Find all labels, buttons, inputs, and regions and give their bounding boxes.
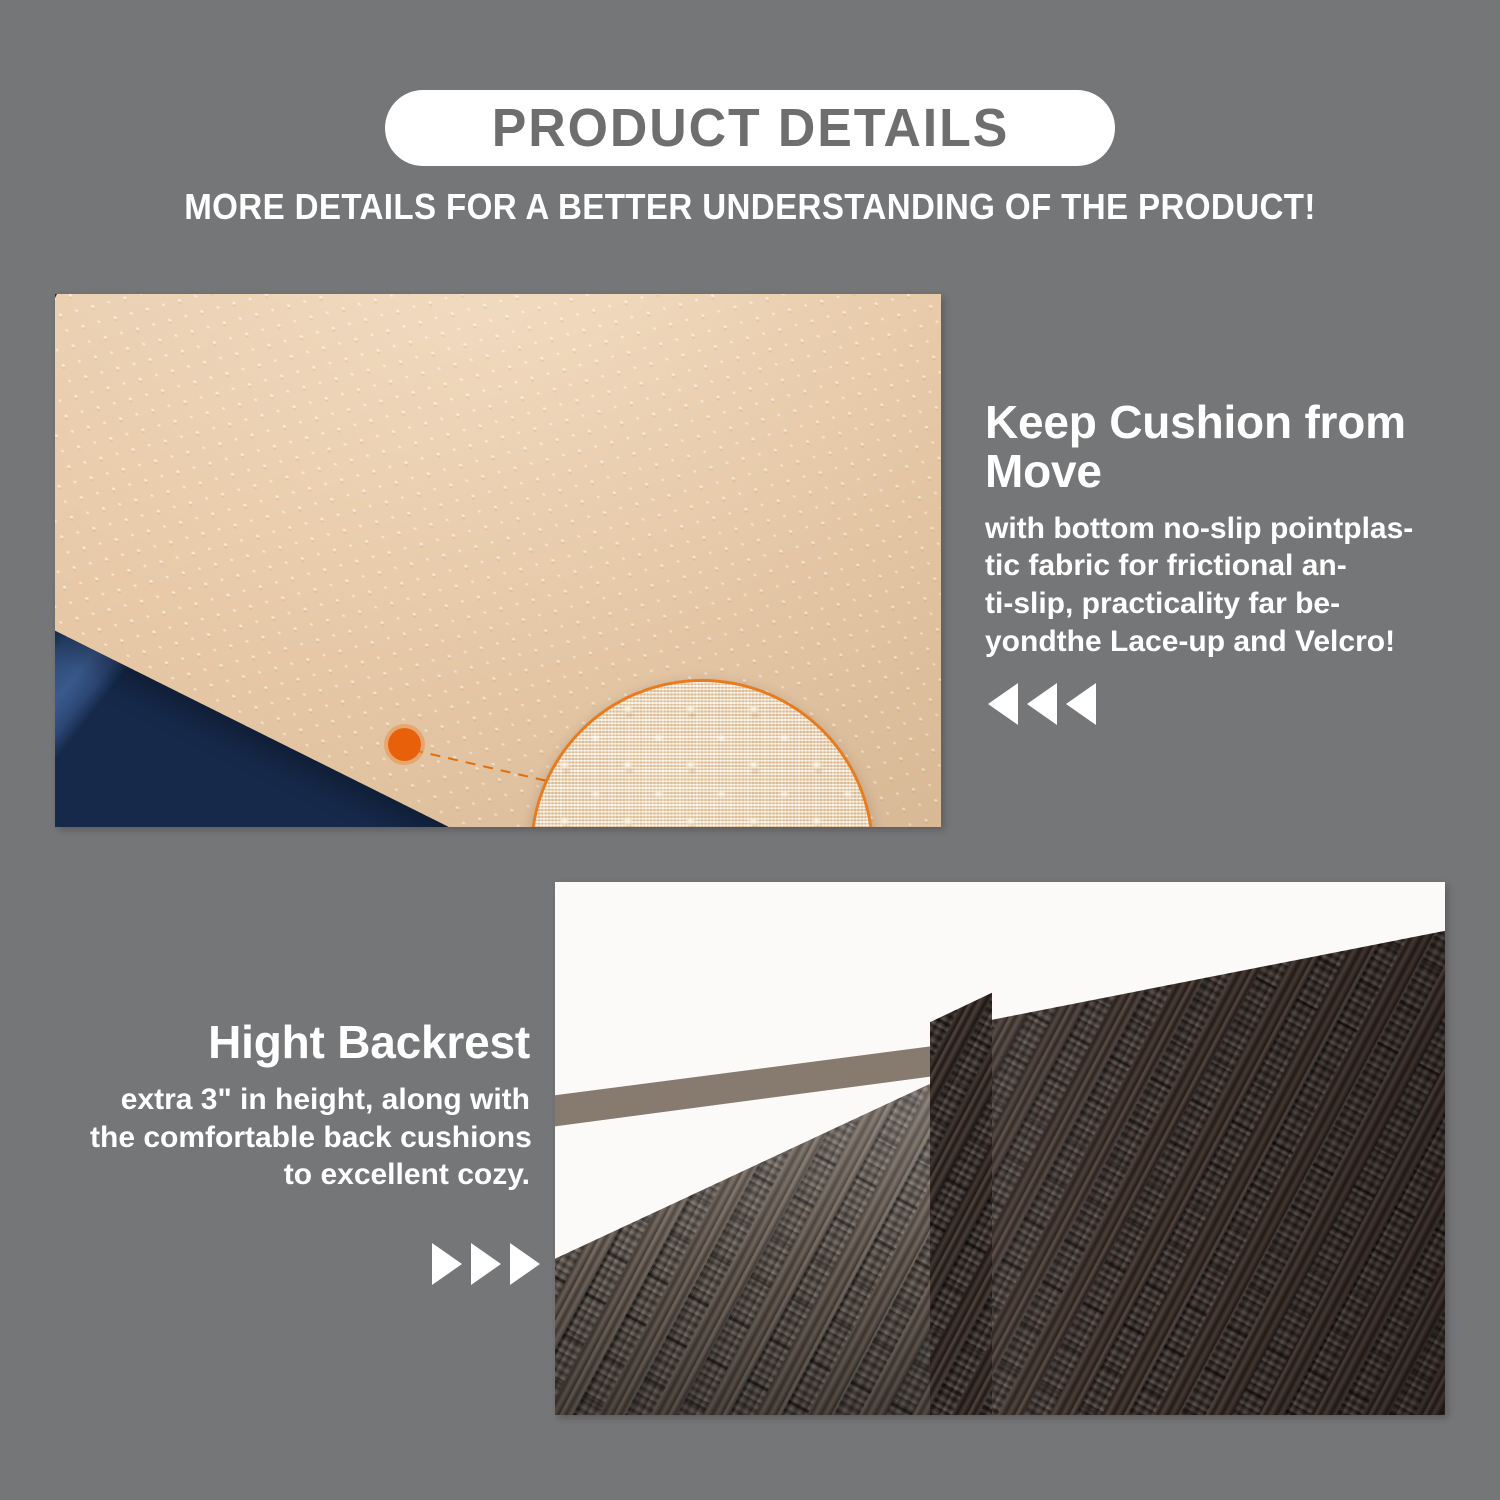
page-header: PRODUCT DETAILS MORE DETAILS FOR A BETTE… bbox=[0, 0, 1500, 260]
callout-orange-dot-icon bbox=[388, 728, 421, 761]
arrow-right-icon bbox=[471, 1243, 501, 1285]
feature-body-line: with bottom no-slip pointplas- bbox=[985, 510, 1455, 548]
feature-body: extra 3" in height, along with the comfo… bbox=[90, 1081, 530, 1194]
feature-body-line: yondthe Lace-up and Velcro! bbox=[985, 623, 1455, 661]
cushion-anti-slip-photo bbox=[55, 294, 941, 827]
arrow-right-icon bbox=[432, 1243, 462, 1285]
feature-keep-cushion-from-move: Keep Cushion from Move with bottom no-sl… bbox=[985, 398, 1455, 661]
feature-heading: Hight Backrest bbox=[90, 1018, 530, 1067]
feature-body-line: tic fabric for frictional an- bbox=[985, 547, 1455, 585]
feature-body-line: to excellent cozy. bbox=[90, 1156, 530, 1194]
magnifier-circle bbox=[530, 679, 874, 827]
arrow-left-icon bbox=[988, 683, 1018, 725]
arrow-left-icon bbox=[1066, 683, 1096, 725]
feature-body-line: extra 3" in height, along with bbox=[90, 1081, 530, 1119]
feature-heading: Keep Cushion from Move bbox=[985, 398, 1455, 496]
page-subtitle: MORE DETAILS FOR A BETTER UNDERSTANDING … bbox=[0, 186, 1500, 228]
arrow-left-icon bbox=[1027, 683, 1057, 725]
right-arrows-group bbox=[432, 1243, 540, 1285]
feature-heading-line: Hight Backrest bbox=[208, 1016, 530, 1068]
left-arrows-group bbox=[988, 683, 1096, 725]
feature-body-line: the comfortable back cushions bbox=[90, 1119, 530, 1157]
feature-body-line: ti-slip, practicality far be- bbox=[985, 585, 1455, 623]
wicker-backrest-photo bbox=[555, 882, 1445, 1415]
arrow-right-icon bbox=[510, 1243, 540, 1285]
feature-heading-line: Keep Cushion bbox=[985, 396, 1292, 448]
page-subtitle-text: MORE DETAILS FOR A BETTER UNDERSTANDING … bbox=[184, 186, 1316, 228]
feature-body: with bottom no-slip pointplas- tic fabri… bbox=[985, 510, 1455, 661]
page-title-pill: PRODUCT DETAILS bbox=[385, 90, 1115, 166]
page-title: PRODUCT DETAILS bbox=[491, 97, 1008, 159]
feature-hight-backrest: Hight Backrest extra 3" in height, along… bbox=[90, 1018, 530, 1194]
magnified-grip-dots-offset bbox=[533, 682, 871, 827]
